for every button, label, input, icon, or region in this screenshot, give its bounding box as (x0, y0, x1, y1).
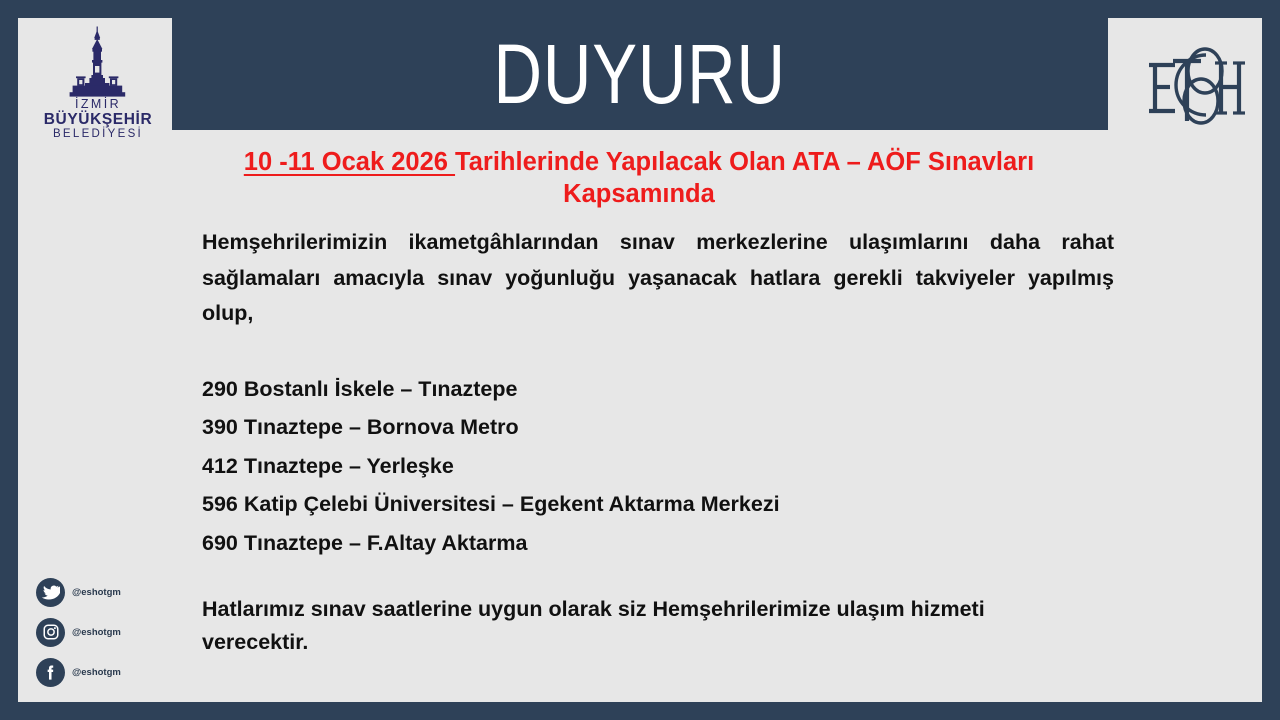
announcement-content: 10 -11 Ocak 2026 Tarihlerinde Yapılacak … (184, 136, 1262, 659)
list-item: 390 Tınaztepe – Bornova Metro (202, 408, 1122, 447)
header-bar: DUYURU (172, 18, 1108, 130)
izmir-clock-tower-icon (38, 26, 158, 98)
list-item: 412 Tınaztepe – Yerleşke (202, 447, 1122, 486)
facebook-icon[interactable] (36, 658, 65, 687)
list-item: 690 Tınaztepe – F.Altay Aktarma (202, 524, 1122, 563)
route-list: 290 Bostanlı İskele – Tınaztepe 390 Tına… (202, 370, 1122, 563)
eshot-logo (1130, 26, 1252, 144)
headline-date: 10 -11 Ocak 2026 (244, 148, 455, 176)
social-handle: @eshotgm (72, 627, 121, 638)
list-item: 596 Katip Çelebi Üniversitesi – Egekent … (202, 485, 1122, 524)
headline-rest: Tarihlerinde Yapılacak Olan ATA – AÖF Sı… (455, 148, 1034, 208)
social-handle: @eshotgm (72, 587, 121, 598)
social-row-facebook[interactable]: @eshotgm (36, 653, 166, 691)
social-row-twitter[interactable]: @eshotgm (36, 573, 166, 611)
poster-inner-panel: İZMİR BÜYÜKŞEHİR BELEDİYESİ DUYURU (18, 18, 1262, 702)
page-title: DUYURU (494, 32, 786, 116)
twitter-icon[interactable] (36, 578, 65, 607)
headline: 10 -11 Ocak 2026 Tarihlerinde Yapılacak … (184, 136, 1094, 210)
closing-paragraph: Hatlarımız sınav saatlerine uygun olarak… (202, 593, 1052, 659)
logo-line-buyuksehir: BÜYÜKŞEHİR (44, 112, 152, 128)
instagram-icon[interactable] (36, 618, 65, 647)
list-item: 290 Bostanlı İskele – Tınaztepe (202, 370, 1122, 409)
izmir-municipality-logo: İZMİR BÜYÜKŞEHİR BELEDİYESİ (32, 26, 164, 148)
announcement-poster: İZMİR BÜYÜKŞEHİR BELEDİYESİ DUYURU (0, 0, 1280, 720)
social-row-instagram[interactable]: @eshotgm (36, 613, 166, 651)
eshot-monogram-icon (1135, 29, 1247, 141)
social-media-block: @eshotgm @eshotgm @eshot (36, 573, 166, 693)
social-handle: @eshotgm (72, 667, 121, 678)
logo-line-izmir: İZMİR (75, 98, 121, 111)
intro-paragraph: Hemşehrilerimizin ikametgâhlarından sına… (202, 225, 1114, 332)
logo-line-belediyesi: BELEDİYESİ (53, 129, 143, 141)
